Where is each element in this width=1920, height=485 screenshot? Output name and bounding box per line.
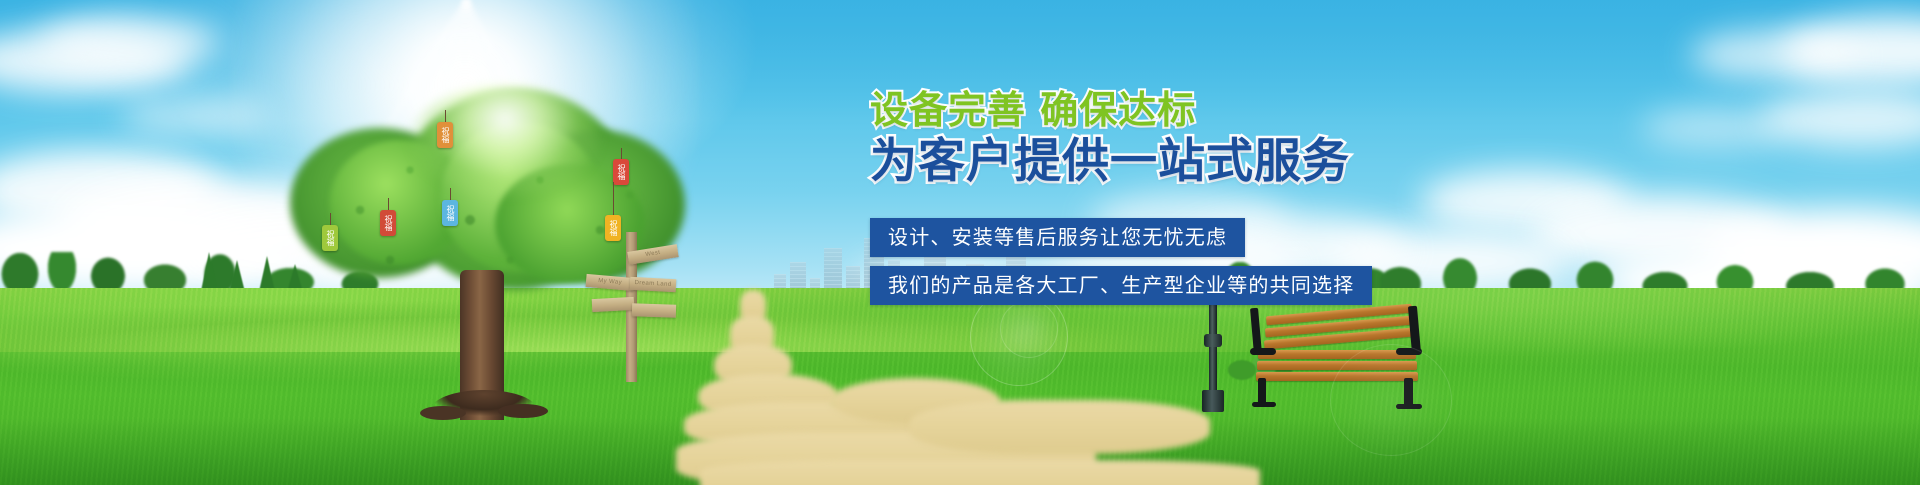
subtitle-bar-2: 我们的产品是各大工厂、生产型企业等的共同选择 [870, 266, 1372, 305]
banner-copy: 设备完善 确保达标 为客户提供一站式服务 设计、安装等售后服务让您无忧无虑 我们… [870, 88, 1630, 305]
tree-root [420, 406, 466, 420]
signpost-arm-dreamland: Dream Land [630, 277, 677, 292]
wooden-signpost: West My Way Dream Land [592, 232, 672, 382]
path-segment [910, 400, 1210, 454]
lamp-base [1202, 390, 1224, 412]
wish-tag: 祝福 [322, 225, 338, 251]
cloud-icon [1690, 30, 1860, 80]
lens-flare-circle [1000, 300, 1058, 358]
path-segment [700, 460, 1260, 485]
cloud-icon [120, 96, 270, 136]
hero-banner: 祝福 祝福 祝福 祝福 祝福 祝福 West My Way Dream Land [0, 0, 1920, 485]
bench-foot-left [1252, 402, 1276, 407]
tree-root [498, 404, 548, 418]
wish-tag: 祝福 [442, 200, 458, 226]
signpost-arm-myway: My Way [586, 274, 635, 291]
wish-tag: 祝福 [380, 210, 396, 236]
bench-arm-curve-left [1250, 348, 1276, 355]
headline-primary: 设备完善 确保达标 [870, 88, 1630, 132]
wish-tag: 祝福 [613, 159, 629, 185]
signpost-arm-blank [592, 297, 635, 312]
cloud-icon [1640, 108, 1790, 148]
wish-tag: 祝福 [437, 122, 453, 148]
tag-string [613, 182, 614, 216]
lens-flare-circle [1330, 344, 1452, 456]
signpost-arm-blank [632, 303, 676, 318]
subtitle-bar-1: 设计、安装等售后服务让您无忧无虑 [870, 218, 1245, 257]
lamp-collar [1204, 334, 1222, 347]
cloud-icon [40, 14, 220, 70]
headline-secondary: 为客户提供一站式服务 [870, 134, 1630, 190]
